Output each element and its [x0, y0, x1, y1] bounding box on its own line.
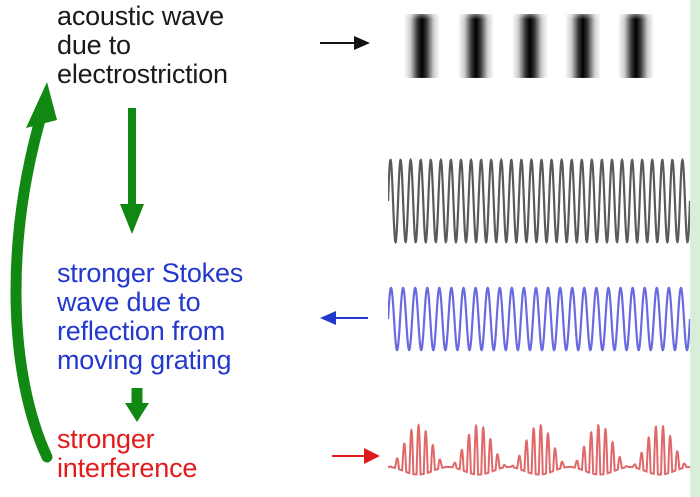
- black-right-arrow-icon: [318, 30, 374, 56]
- red-right-arrow-icon: [330, 443, 382, 469]
- green-down-arrow-long-icon: [112, 104, 152, 238]
- blue-left-arrow-icon: [320, 305, 370, 331]
- green-down-arrow-short-icon: [118, 386, 158, 426]
- figure-acoustic-grating: [404, 8, 674, 88]
- right-edge-strip: [690, 0, 700, 497]
- figure-stokes-wave: [388, 282, 690, 356]
- figure-interference-beat: [388, 418, 690, 490]
- diagram-canvas: acoustic wave due to electrostriction st…: [0, 0, 700, 497]
- figure-pump-wave: [388, 152, 690, 250]
- green-curved-feedback-arrow-icon: [0, 72, 110, 472]
